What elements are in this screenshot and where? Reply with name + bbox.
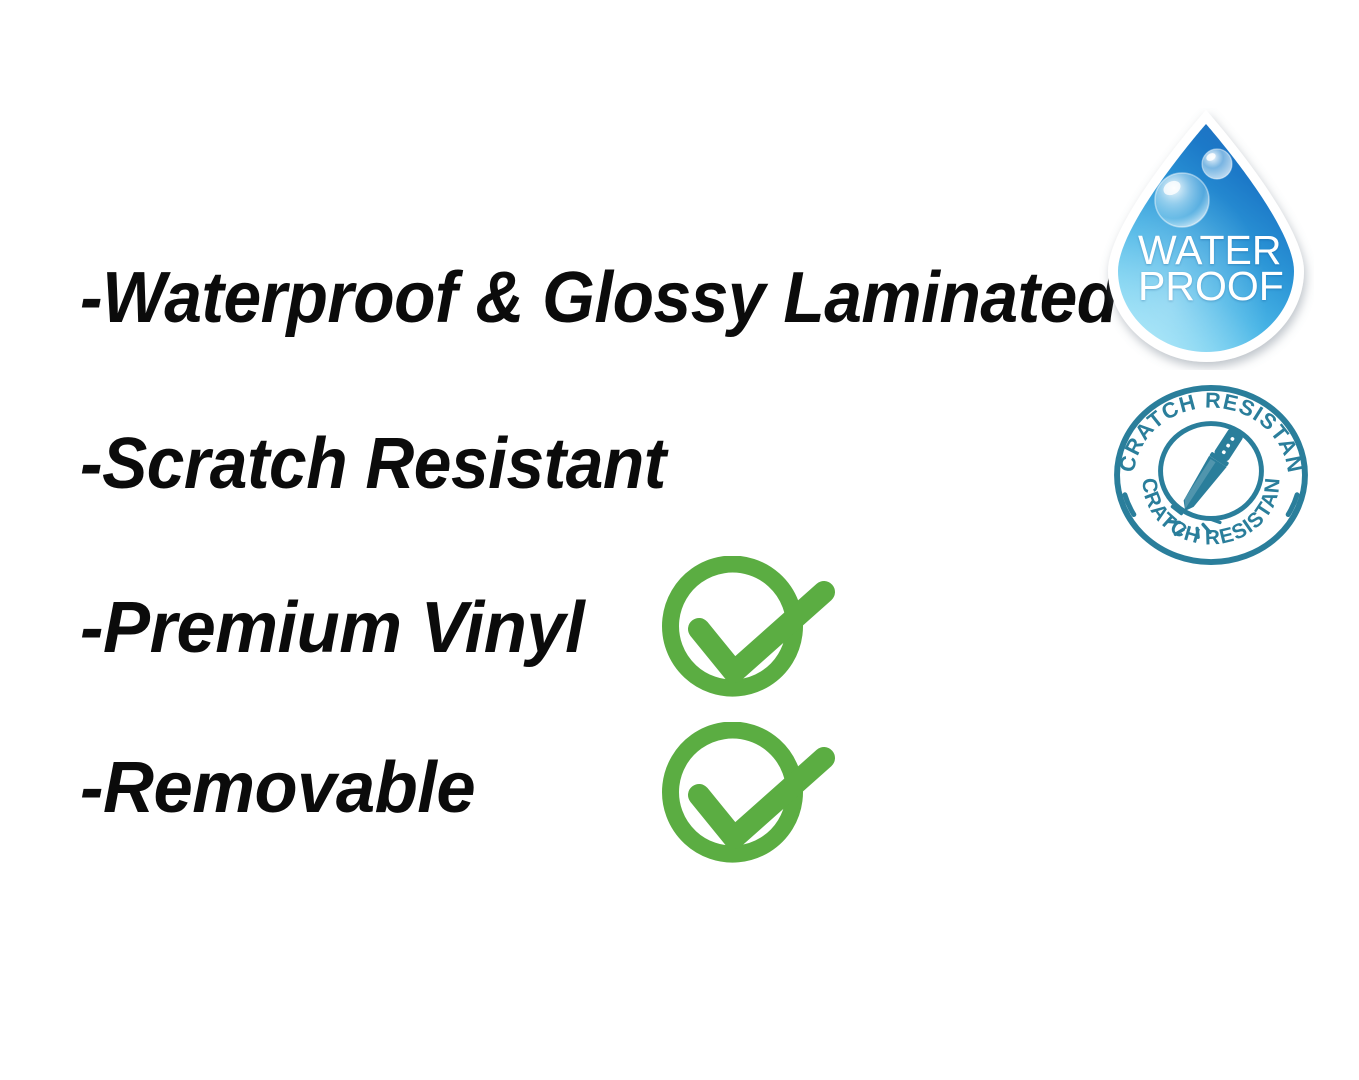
bubble-large-icon [1155, 173, 1209, 227]
feature-item-waterproof-glossy-laminated: -Waterproof & Glossy Laminated [80, 262, 1118, 334]
waterproof-badge: WATER PROOF [1098, 108, 1314, 370]
check-stroke [699, 592, 824, 672]
feature-item-removable: -Removable [80, 752, 475, 824]
knife-icon [1177, 426, 1246, 517]
feature-item-premium-vinyl: -Premium Vinyl [80, 592, 584, 664]
knife-stamp-icon: SCRATCH RESISTANT SCRATCH RESISTANT [1112, 384, 1310, 566]
bubble-small-icon [1202, 149, 1232, 179]
scratch-resistant-badge: SCRATCH RESISTANT SCRATCH RESISTANT [1112, 384, 1310, 566]
circle-check-icon [646, 556, 838, 708]
water-drop-icon [1098, 108, 1314, 370]
circle-check-icon [646, 722, 838, 874]
knife-blade [1177, 456, 1227, 517]
feature-list-graphic: -Waterproof & Glossy Laminated -Scratch … [0, 0, 1359, 1080]
check-stroke [699, 758, 824, 838]
checkmark-removable [646, 722, 838, 874]
checkmark-premium-vinyl [646, 556, 838, 708]
feature-item-scratch-resistant: -Scratch Resistant [80, 428, 666, 500]
